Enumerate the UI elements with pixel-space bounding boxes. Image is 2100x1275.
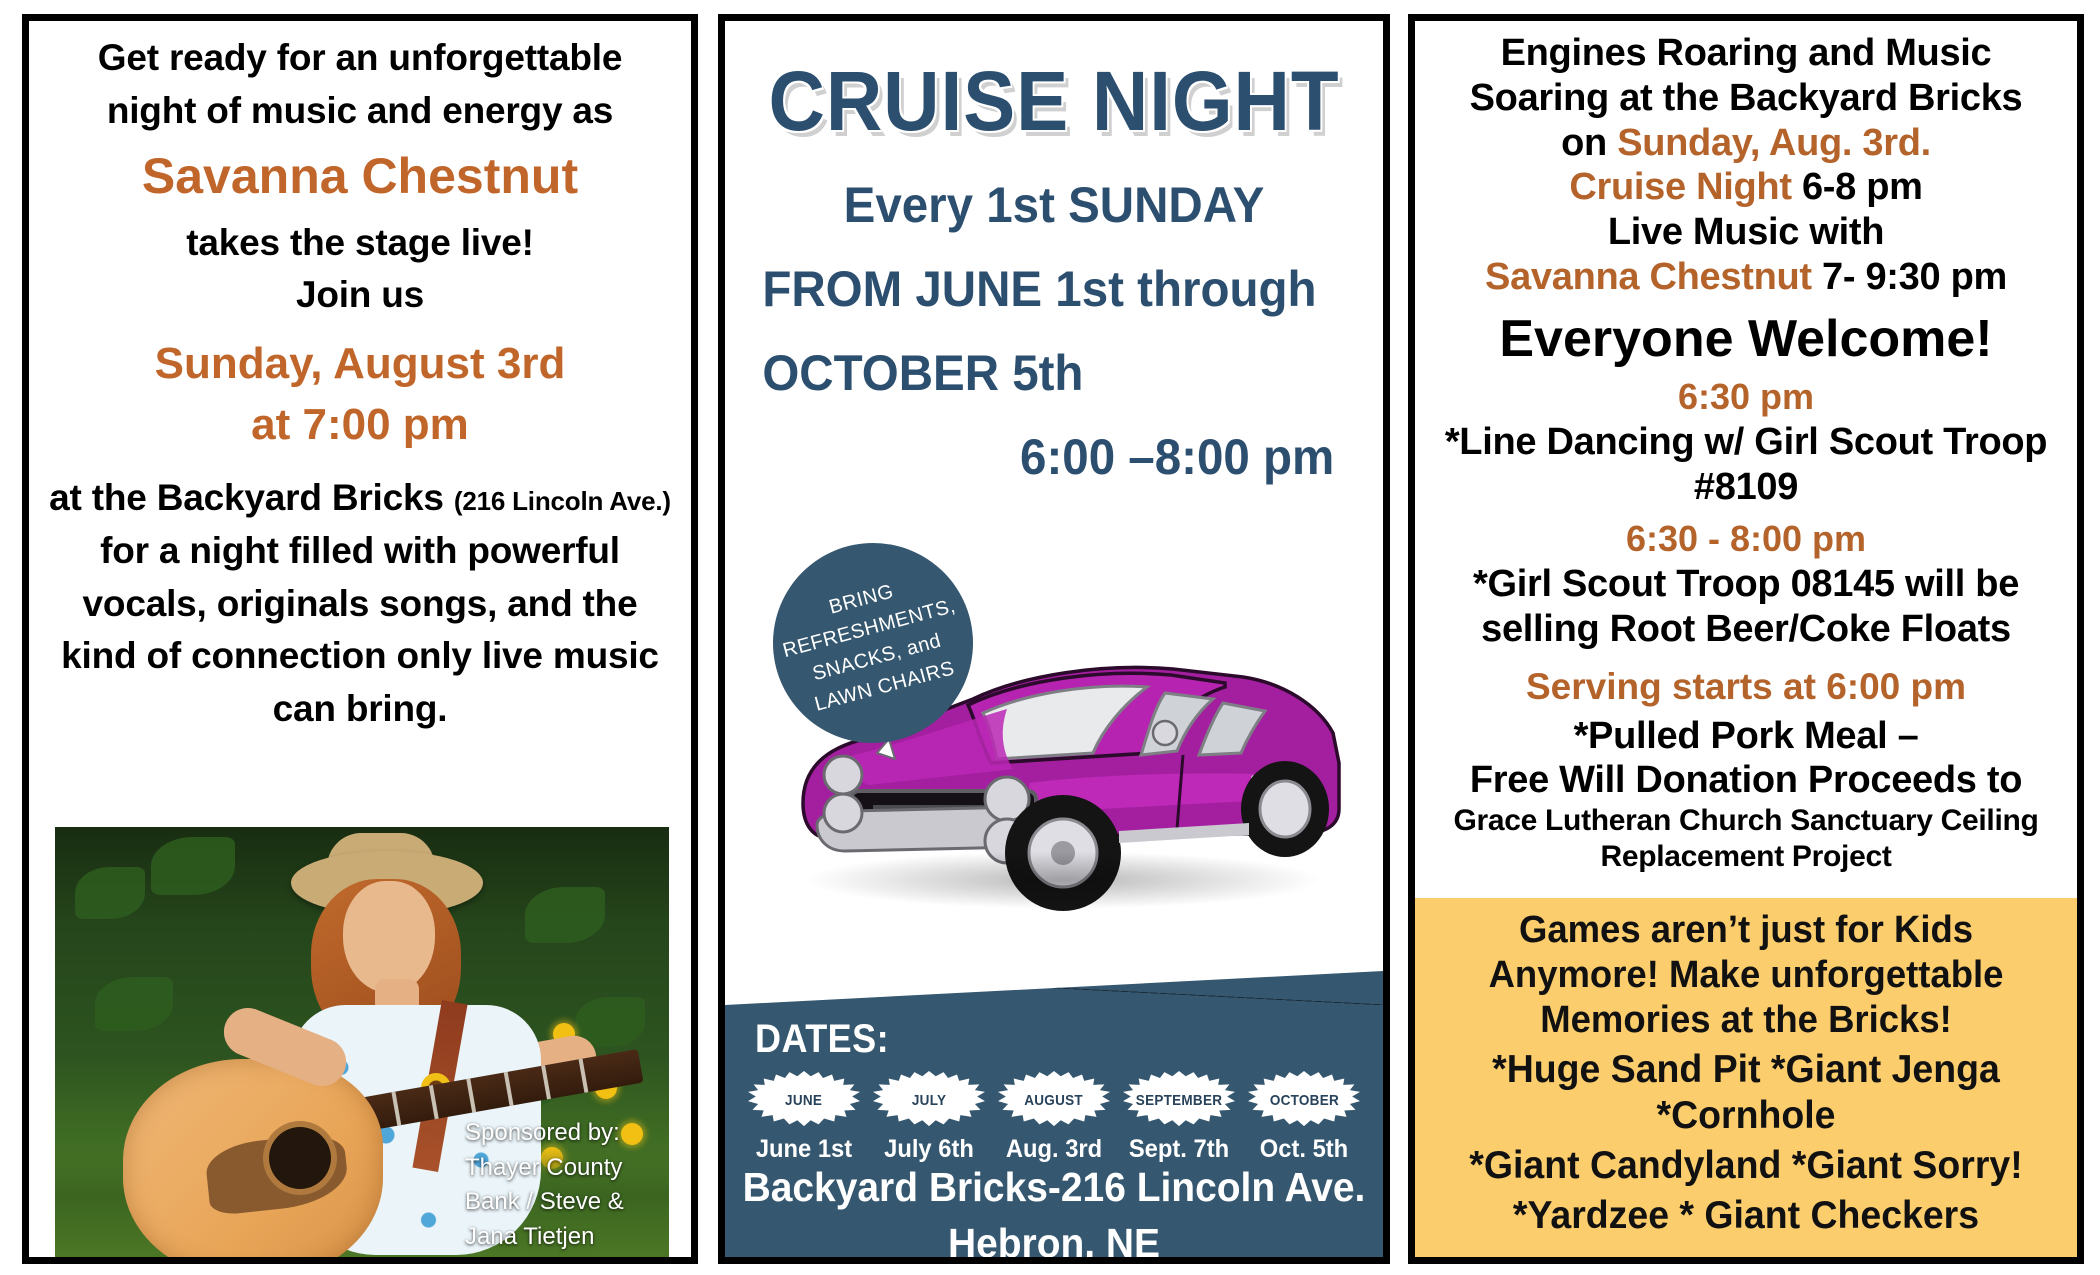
left-body-line-1: for a night filled with powerful [43,528,677,575]
bring-items-badge: BRING REFRESHMENTS, SNACKS, and LAWN CHA… [773,543,973,743]
artist-line: Savanna Chestnut 7- 9:30 pm [1427,255,2065,300]
cruise-subtitle-2: FROM JUNE 1st through [741,260,1366,318]
schedule-item-2b: selling Root Beer/Coke Floats [1427,607,2065,652]
date-value: June 1st [746,1135,862,1164]
date-item: OCTOBER Oct. 5th [1243,1071,1365,1164]
right-head-line-1: Engines Roaring and Music [1427,31,2065,76]
guitar-soundhole [269,1127,331,1189]
date-month: AUGUST [1025,1092,1084,1109]
venue-address-line-2: Hebron, NE [741,1220,1366,1264]
date-month: SEPTEMBER [1136,1092,1222,1109]
right-head-prefix: on [1561,122,1617,164]
right-head-date: Sunday, Aug. 3rd. [1617,122,1931,164]
sponsor-line-4: Jana Tietjen [465,1220,655,1255]
artist-photo: Sponsored by: Thayer County Bank / Steve… [55,827,669,1264]
middle-panel: CRUISE NIGHT Every 1st SUNDAY FROM JUNE … [718,14,1390,1264]
event-time: at 7:00 pm [43,396,677,453]
left-body-line-2: vocals, originals songs, and the [43,581,677,628]
venue-name: at the Backyard Bricks [49,477,444,518]
date-value: Sept. 7th [1121,1135,1237,1164]
car-shadow [803,851,1323,909]
date-value: Aug. 3rd [996,1135,1112,1164]
games-row-2: *Giant Candyland *Giant Sorry! [1442,1143,2051,1189]
event-date: Sunday, August 3rd [43,335,677,392]
schedule-time-1: 6:30 pm [1427,376,2065,418]
left-body-line-4: can bring. [43,686,677,733]
schedule-item-1b: #8109 [1427,465,2065,510]
poster-root: Get ready for an unforgettable night of … [0,0,2100,1275]
schedule-item-2a: *Girl Scout Troop 08145 will be [1427,562,2065,607]
schedule-item-1a: *Line Dancing w/ Girl Scout Troop [1427,420,2065,465]
left-intro-line-1: Get ready for an unforgettable [43,35,677,82]
right-head-line-2: Soaring at the Backyard Bricks [1427,76,2065,121]
sponsor-line-1: Sponsored by: [465,1116,655,1151]
left-panel: Get ready for an unforgettable night of … [22,14,698,1264]
venue-address: (216 Lincoln Ave.) [454,486,671,516]
dates-label: DATES: [755,1017,889,1062]
artist-name: Savanna Chestnut [43,148,677,206]
middle-panel-content: CRUISE NIGHT Every 1st SUNDAY FROM JUNE … [725,53,1383,1264]
meal-line-3: Grace Lutheran Church Sanctuary Ceiling [1427,803,2065,838]
dates-row: JUNE June 1st JULY July 6th AUGUST [743,1071,1365,1164]
games-section: Games aren’t just for Kids Anymore! Make… [1415,898,2077,1257]
face [343,881,435,993]
starburst-icon: SEPTEMBER [1123,1071,1235,1129]
date-value: July 6th [871,1135,987,1164]
cruise-subtitle-4: 6:00 –8:00 pm [741,428,1366,486]
date-item: AUGUST Aug. 3rd [993,1071,1115,1164]
date-item: JUNE June 1st [743,1071,865,1164]
sponsor-line-2: Thayer County [465,1151,655,1186]
games-row-1: *Huge Sand Pit *Giant Jenga *Cornhole [1442,1047,2051,1139]
venue-line: at the Backyard Bricks (216 Lincoln Ave.… [43,475,677,522]
meal-line-4: Replacement Project [1427,839,2065,874]
live-music-label: Live Music with [1427,210,2065,255]
serving-start: Serving starts at 6:00 pm [1427,666,2065,708]
right-head-line-3: on Sunday, Aug. 3rd. [1427,121,2065,166]
date-value: Oct. 5th [1246,1135,1362,1164]
date-item: SEPTEMBER Sept. 7th [1118,1071,1240,1164]
games-head-1: Games aren’t just for Kids [1442,908,2051,953]
games-head-3: Memories at the Bricks! [1442,998,2051,1043]
date-month: OCTOBER [1269,1092,1338,1109]
meal-line-1: *Pulled Pork Meal – [1427,714,2065,759]
sponsor-line-3: Bank / Steve & [465,1185,655,1220]
left-panel-content: Get ready for an unforgettable night of … [29,21,691,732]
left-join-line: Join us [43,272,677,319]
schedule-time-2: 6:30 - 8:00 pm [1427,518,2065,560]
left-stage-line: takes the stage live! [43,220,677,267]
date-month: JULY [912,1092,946,1109]
sponsor-credit: Sponsored by: Thayer County Bank / Steve… [465,1116,655,1255]
meal-line-2: Free Will Donation Proceeds to [1427,758,2065,803]
starburst-icon: JUNE [748,1071,860,1129]
venue-address-line-1: Backyard Bricks-216 Lincoln Ave. [741,1164,1366,1211]
cruise-night-title: CRUISE NIGHT [748,53,1360,150]
starburst-icon: OCTOBER [1248,1071,1360,1129]
everyone-welcome: Everyone Welcome! [1427,310,2065,368]
artist-time: 7- 9:30 pm [1812,256,2007,298]
cruise-subtitle-3: OCTOBER 5th [741,344,1366,402]
starburst-icon: JULY [873,1071,985,1129]
cruise-night-label: Cruise Night [1569,166,1791,208]
games-head-2: Anymore! Make unforgettable [1442,953,2051,998]
cruise-night-time: 6-8 pm [1792,166,1923,208]
left-intro-line-2: night of music and energy as [43,88,677,135]
bring-items-badge-label: BRING REFRESHMENTS, SNACKS, and LAWN CHA… [761,559,985,727]
date-month: JUNE [785,1092,822,1109]
date-item: JULY July 6th [868,1071,990,1164]
cruise-subtitle-1: Every 1st SUNDAY [741,176,1366,234]
dates-band-edge [725,971,1383,1005]
dates-band: DATES: JUNE June 1st JULY July 6th [725,971,1383,1264]
right-panel: Engines Roaring and Music Soaring at the… [1408,14,2084,1264]
left-body-line-3: kind of connection only live music [43,633,677,680]
right-panel-content: Engines Roaring and Music Soaring at the… [1415,21,2077,874]
starburst-icon: AUGUST [998,1071,1110,1129]
artist-name-right: Savanna Chestnut [1485,256,1812,298]
cruise-night-line: Cruise Night 6-8 pm [1427,165,2065,210]
games-row-3: *Yardzee * Giant Checkers [1442,1193,2051,1239]
